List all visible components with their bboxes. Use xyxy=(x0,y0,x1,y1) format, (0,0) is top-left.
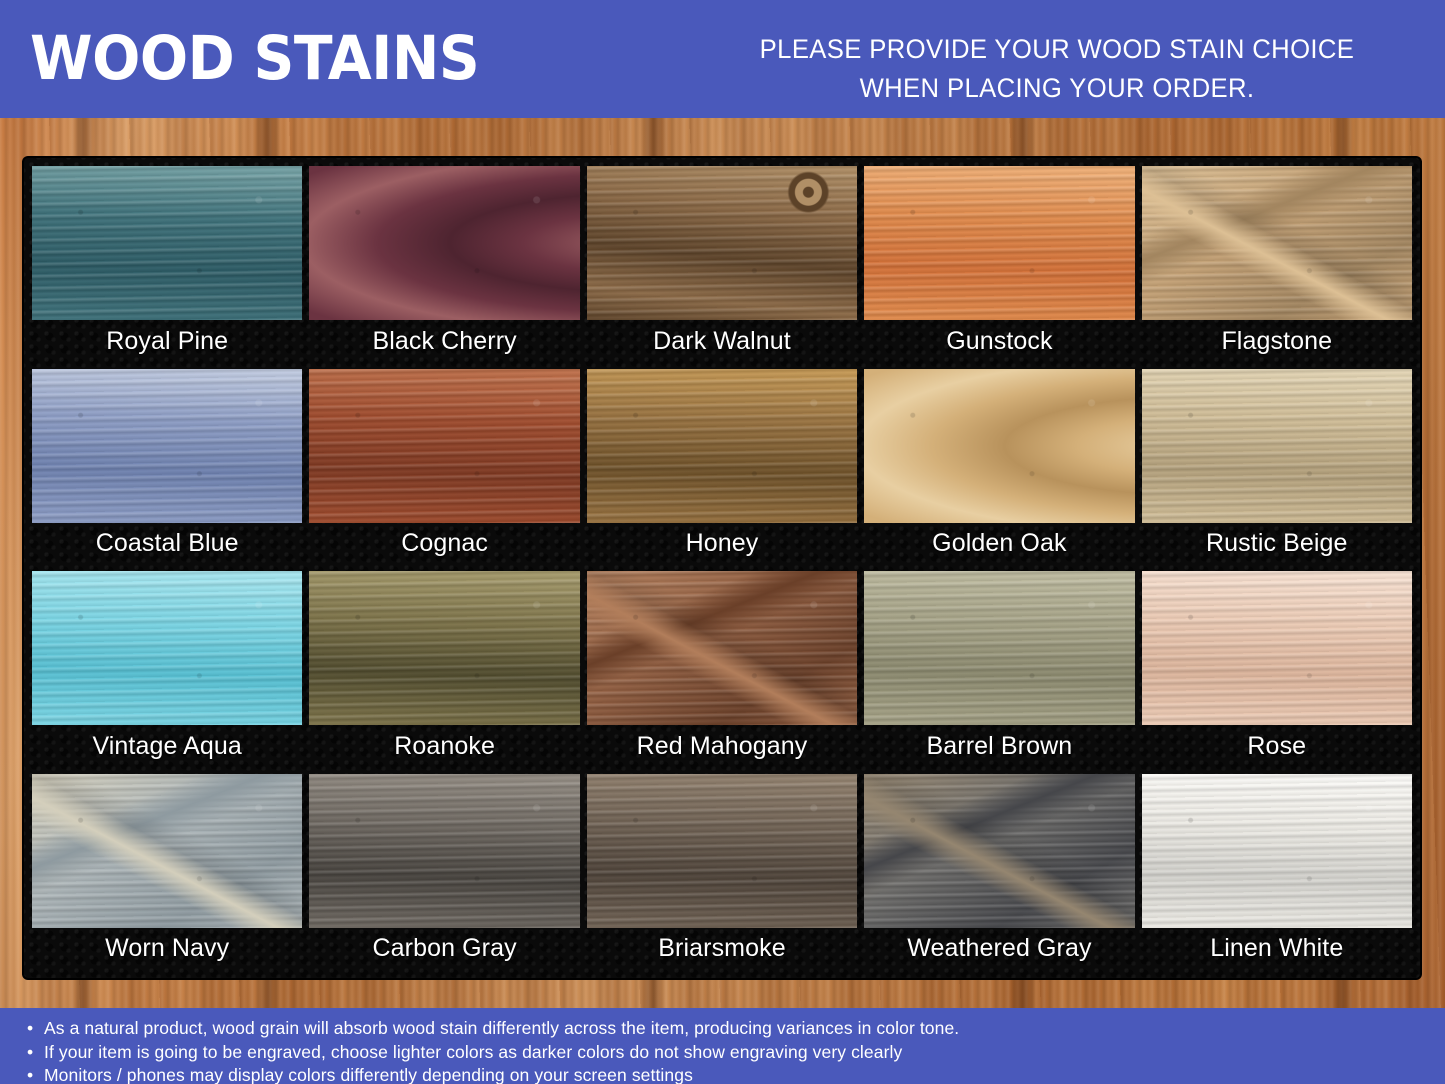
stain-name-label: Coastal Blue xyxy=(32,523,302,566)
stain-swatch-cell[interactable]: Worn Navy xyxy=(32,774,302,971)
stain-swatch-cell[interactable]: Briarsmoke xyxy=(587,774,857,971)
disclaimer-item: As a natural product, wood grain will ab… xyxy=(44,1017,1445,1041)
stain-swatch-cell[interactable]: Barrel Brown xyxy=(864,571,1134,768)
stain-swatch-cell[interactable]: Honey xyxy=(587,369,857,566)
stain-color-sample xyxy=(309,166,579,320)
stain-swatch-cell[interactable]: Carbon Gray xyxy=(309,774,579,971)
wood-grain-texture xyxy=(1142,369,1412,523)
stain-swatch-cell[interactable]: Golden Oak xyxy=(864,369,1134,566)
stain-swatch-grid: Royal PineBlack CherryDark WalnutGunstoc… xyxy=(32,166,1412,970)
stain-swatch-cell[interactable]: Royal Pine xyxy=(32,166,302,363)
poster-footer: As a natural product, wood grain will ab… xyxy=(0,1008,1445,1084)
stain-name-label: Red Mahogany xyxy=(587,725,857,768)
wood-grain-texture xyxy=(864,571,1134,725)
stain-swatch-cell[interactable]: Linen White xyxy=(1142,774,1412,971)
stain-name-label: Gunstock xyxy=(864,320,1134,363)
stain-name-label: Cognac xyxy=(309,523,579,566)
stain-name-label: Dark Walnut xyxy=(587,320,857,363)
stain-name-label: Flagstone xyxy=(1142,320,1412,363)
stain-name-label: Rustic Beige xyxy=(1142,523,1412,566)
disclaimer-item: Monitors / phones may display colors dif… xyxy=(44,1064,1445,1084)
wood-grain-texture xyxy=(587,166,857,320)
poster-header: WOOD STAINS PLEASE PROVIDE YOUR WOOD STA… xyxy=(0,0,1445,118)
stain-swatch-cell[interactable]: Roanoke xyxy=(309,571,579,768)
stain-name-label: Barrel Brown xyxy=(864,725,1134,768)
stain-swatch-cell[interactable]: Flagstone xyxy=(1142,166,1412,363)
stain-name-label: Black Cherry xyxy=(309,320,579,363)
stain-swatch-cell[interactable]: Rose xyxy=(1142,571,1412,768)
stain-color-sample xyxy=(309,571,579,725)
stain-name-label: Linen White xyxy=(1142,928,1412,971)
stain-name-label: Vintage Aqua xyxy=(32,725,302,768)
stain-name-label: Roanoke xyxy=(309,725,579,768)
wood-grain-texture xyxy=(1142,774,1412,928)
stain-color-sample xyxy=(587,166,857,320)
wood-grain-texture xyxy=(864,774,1134,928)
stain-color-sample xyxy=(1142,369,1412,523)
stain-color-sample xyxy=(864,571,1134,725)
stain-swatch-cell[interactable]: Rustic Beige xyxy=(1142,369,1412,566)
wood-grain-texture xyxy=(32,369,302,523)
stain-swatch-cell[interactable]: Black Cherry xyxy=(309,166,579,363)
wood-grain-texture xyxy=(32,166,302,320)
wood-grain-texture xyxy=(309,571,579,725)
stain-color-sample xyxy=(864,369,1134,523)
stain-swatch-cell[interactable]: Gunstock xyxy=(864,166,1134,363)
wood-grain-texture xyxy=(309,369,579,523)
stain-color-sample xyxy=(32,774,302,928)
wood-grain-texture xyxy=(309,774,579,928)
stain-swatch-cell[interactable]: Cognac xyxy=(309,369,579,566)
wood-stains-poster: WOOD STAINS PLEASE PROVIDE YOUR WOOD STA… xyxy=(0,0,1445,1084)
wood-grain-texture xyxy=(1142,166,1412,320)
stain-name-label: Rose xyxy=(1142,725,1412,768)
stain-color-sample xyxy=(32,571,302,725)
stain-swatch-panel: Royal PineBlack CherryDark WalnutGunstoc… xyxy=(24,158,1420,978)
wood-grain-texture xyxy=(1142,571,1412,725)
wood-grain-texture xyxy=(587,571,857,725)
stain-color-sample xyxy=(864,166,1134,320)
stain-color-sample xyxy=(309,369,579,523)
stain-color-sample xyxy=(32,369,302,523)
disclaimer-list: As a natural product, wood grain will ab… xyxy=(22,1017,1445,1084)
stain-name-label: Weathered Gray xyxy=(864,928,1134,971)
disclaimer-item: If your item is going to be engraved, ch… xyxy=(44,1041,1445,1065)
stain-color-sample xyxy=(587,571,857,725)
stain-color-sample xyxy=(1142,774,1412,928)
wood-grain-texture xyxy=(309,166,579,320)
wood-grain-texture xyxy=(32,774,302,928)
wood-grain-texture xyxy=(864,369,1134,523)
stain-swatch-cell[interactable]: Red Mahogany xyxy=(587,571,857,768)
stain-swatch-cell[interactable]: Weathered Gray xyxy=(864,774,1134,971)
page-title: WOOD STAINS xyxy=(30,27,479,91)
stain-name-label: Briarsmoke xyxy=(587,928,857,971)
stain-color-sample xyxy=(864,774,1134,928)
stain-name-label: Honey xyxy=(587,523,857,566)
order-instruction-line-2: WHEN PLACING YOUR ORDER. xyxy=(725,69,1390,108)
wood-grain-texture xyxy=(864,166,1134,320)
wood-grain-texture xyxy=(32,571,302,725)
wood-grain-texture xyxy=(587,369,857,523)
stain-swatch-cell[interactable]: Vintage Aqua xyxy=(32,571,302,768)
stain-color-sample xyxy=(32,166,302,320)
stain-name-label: Royal Pine xyxy=(32,320,302,363)
stain-name-label: Carbon Gray xyxy=(309,928,579,971)
stain-color-sample xyxy=(1142,166,1412,320)
stain-name-label: Worn Navy xyxy=(32,928,302,971)
stain-swatch-cell[interactable]: Dark Walnut xyxy=(587,166,857,363)
order-instruction-line-1: PLEASE PROVIDE YOUR WOOD STAIN CHOICE xyxy=(725,30,1390,69)
stain-color-sample xyxy=(309,774,579,928)
stain-swatch-cell[interactable]: Coastal Blue xyxy=(32,369,302,566)
wood-grain-texture xyxy=(587,774,857,928)
order-instruction-note: PLEASE PROVIDE YOUR WOOD STAIN CHOICE WH… xyxy=(725,30,1390,108)
stain-color-sample xyxy=(587,774,857,928)
stain-color-sample xyxy=(1142,571,1412,725)
stain-color-sample xyxy=(587,369,857,523)
stain-name-label: Golden Oak xyxy=(864,523,1134,566)
